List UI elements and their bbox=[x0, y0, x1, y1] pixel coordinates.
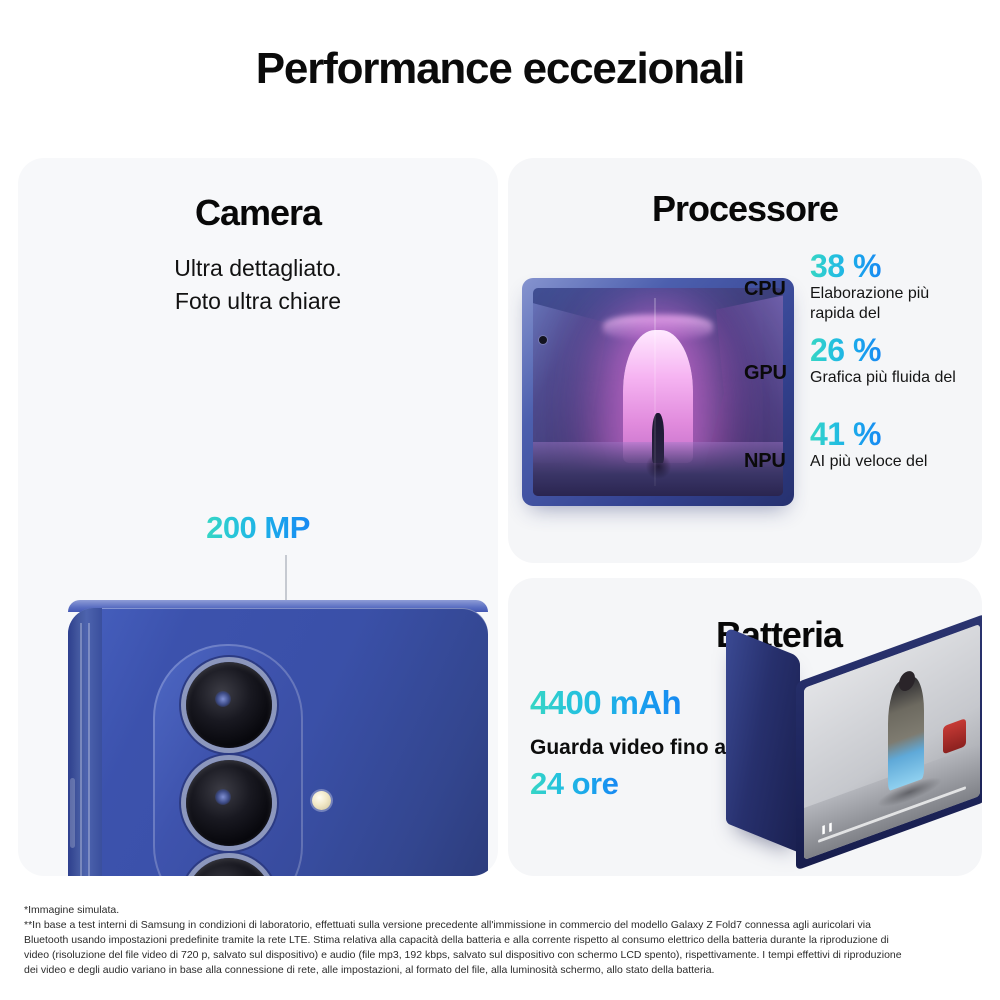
lens-glint-icon bbox=[215, 789, 231, 805]
phone-side-button bbox=[70, 778, 75, 848]
phone-tent-mode-image: ▐▐ bbox=[714, 636, 982, 876]
stat-description-cpu: Elaborazione più rapida del bbox=[810, 284, 960, 325]
hinge-line-2 bbox=[88, 623, 90, 876]
camera-subtitle-line-2: Foto ultra chiare bbox=[18, 285, 498, 318]
processor-feature-card: Processore CPU 38 % Elaborazione più rap… bbox=[508, 158, 982, 563]
page-title: Performance eccezionali bbox=[0, 44, 1000, 94]
footnote-line-3: Bluetooth usando impostazioni predefinit… bbox=[24, 933, 976, 948]
hinge-line-1 bbox=[80, 623, 82, 876]
promo-page: Performance eccezionali Camera Ultra det… bbox=[0, 0, 1000, 1000]
footnote-line-5: dei video e degli audio variano in base … bbox=[24, 963, 976, 978]
camera-card-title: Camera bbox=[18, 192, 498, 234]
camera-flash-icon bbox=[312, 791, 331, 810]
camera-lens-main-200mp bbox=[186, 760, 272, 846]
stat-value-cpu: 38 % bbox=[810, 248, 881, 285]
stat-row-cpu: CPU 38 % Elaborazione più rapida del bbox=[744, 254, 954, 338]
footnotes: *Immagine simulata. **In base a test int… bbox=[24, 903, 976, 978]
stat-description-gpu: Grafica più fluida del bbox=[810, 368, 960, 388]
processor-stats-list: CPU 38 % Elaborazione più rapida del GPU… bbox=[744, 254, 954, 506]
footnote-line-4: video (risoluzione del file video di 720… bbox=[24, 948, 976, 963]
camera-subtitle: Ultra dettagliato. Foto ultra chiare bbox=[18, 252, 498, 317]
tablet-fold-crease bbox=[654, 298, 656, 486]
stat-value-npu: 41 % bbox=[810, 416, 881, 453]
stat-row-npu: NPU 41 % AI più veloce del bbox=[744, 422, 954, 506]
tablet-front-camera-icon bbox=[539, 336, 547, 344]
camera-subtitle-line-1: Ultra dettagliato. bbox=[18, 252, 498, 285]
tent-screen: ▐▐ bbox=[804, 624, 980, 860]
scene-rock-left bbox=[533, 300, 608, 462]
stat-row-gpu: GPU 26 % Grafica più fluida del bbox=[744, 338, 954, 422]
battery-feature-card: Batteria 4400 mAh Guarda video fino a 24… bbox=[508, 578, 982, 876]
camera-feature-card: Camera Ultra dettagliato. Foto ultra chi… bbox=[18, 158, 498, 876]
stat-label-npu: NPU bbox=[744, 450, 786, 473]
tent-panel-left bbox=[726, 627, 800, 853]
footnote-line-1: *Immagine simulata. bbox=[24, 903, 976, 918]
stat-value-gpu: 26 % bbox=[810, 332, 881, 369]
processor-card-title: Processore bbox=[508, 188, 982, 230]
phone-rear-image bbox=[18, 448, 498, 876]
lens-glint-icon bbox=[215, 691, 231, 707]
stat-label-cpu: CPU bbox=[744, 278, 786, 301]
stat-label-gpu: GPU bbox=[744, 362, 787, 385]
camera-lens-wide bbox=[186, 662, 272, 748]
stat-description-npu: AI più veloce del bbox=[810, 452, 960, 472]
footnote-line-2: **In base a test interni di Samsung in c… bbox=[24, 918, 976, 933]
